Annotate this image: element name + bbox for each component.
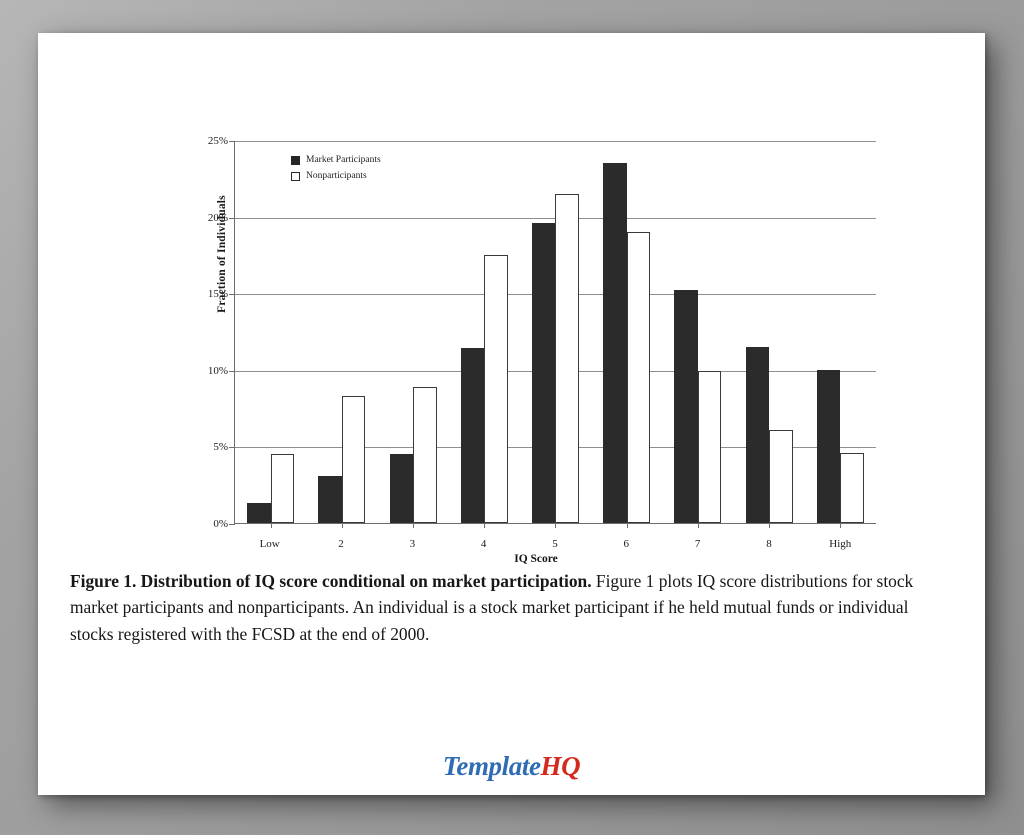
bar-group — [235, 141, 306, 523]
bar-market-participants — [674, 290, 698, 523]
x-axis-tick-labels: Low2345678High — [234, 524, 876, 550]
chart-axes: 0%5%10%15%20%25% Market Participants Non… — [234, 141, 876, 524]
x-tick-label: High — [805, 524, 876, 550]
x-tick-label: 7 — [662, 524, 733, 550]
document-page: Fraction of Individuals 0%5%10%15%20%25%… — [38, 33, 985, 795]
bar-group — [520, 141, 591, 523]
legend-label-nonparticipants: Nonparticipants — [306, 171, 367, 181]
y-tick-label: 15% — [208, 288, 235, 300]
bar-nonparticipants — [698, 371, 722, 523]
bar-group — [377, 141, 448, 523]
bar-market-participants — [461, 348, 485, 523]
figure-1: Fraction of Individuals 0%5%10%15%20%25%… — [38, 33, 985, 533]
bar-market-participants — [817, 370, 841, 523]
bar-nonparticipants — [484, 255, 508, 523]
bar-market-participants — [746, 347, 770, 523]
bar-series-layer — [235, 141, 876, 523]
legend-label-market-participants: Market Participants — [306, 155, 381, 165]
x-axis-title: IQ Score — [196, 553, 876, 565]
bar-group — [591, 141, 662, 523]
x-tick-label: 3 — [377, 524, 448, 550]
y-tick-label: 10% — [208, 365, 235, 377]
bar-group — [306, 141, 377, 523]
bar-nonparticipants — [555, 194, 579, 523]
bar-market-participants — [603, 163, 627, 523]
bar-nonparticipants — [413, 387, 437, 523]
legend-swatch-outlined-icon — [291, 172, 300, 181]
bar-group — [449, 141, 520, 523]
legend-item-nonparticipants: Nonparticipants — [291, 171, 381, 181]
bar-nonparticipants — [769, 430, 793, 523]
watermark-hq-text: HQ — [541, 751, 581, 781]
screenshot-root: Fraction of Individuals 0%5%10%15%20%25%… — [0, 0, 1024, 835]
chart-plot-area: 0%5%10%15%20%25% Market Participants Non… — [196, 141, 876, 524]
x-tick-label: 5 — [519, 524, 590, 550]
bar-group — [805, 141, 876, 523]
y-tick-label: 5% — [213, 441, 235, 453]
x-tick-label: 4 — [448, 524, 519, 550]
bar-nonparticipants — [342, 396, 366, 523]
figure-caption-lead: Figure 1. Distribution of IQ score condi… — [70, 571, 592, 591]
x-tick-label: 8 — [733, 524, 804, 550]
bar-market-participants — [318, 476, 342, 523]
bar-market-participants — [532, 223, 556, 523]
bar-nonparticipants — [271, 454, 295, 523]
watermark-template-text: Template — [443, 751, 541, 781]
figure-caption: Figure 1. Distribution of IQ score condi… — [70, 568, 954, 647]
y-tick-label: 0% — [213, 518, 235, 530]
x-tick-label: Low — [234, 524, 305, 550]
legend-item-market-participants: Market Participants — [291, 155, 381, 165]
bar-nonparticipants — [627, 232, 651, 523]
bar-group — [734, 141, 805, 523]
x-tick-label: 2 — [305, 524, 376, 550]
y-tick-label: 20% — [208, 212, 235, 224]
bar-nonparticipants — [840, 453, 864, 523]
chart-legend: Market Participants Nonparticipants — [291, 155, 381, 187]
y-tick-label: 25% — [208, 135, 235, 147]
legend-swatch-filled-icon — [291, 156, 300, 165]
bar-market-participants — [247, 503, 271, 523]
x-tick-label: 6 — [591, 524, 662, 550]
bar-market-participants — [390, 454, 414, 523]
watermark-logo: TemplateHQ — [38, 751, 985, 782]
bar-group — [662, 141, 733, 523]
